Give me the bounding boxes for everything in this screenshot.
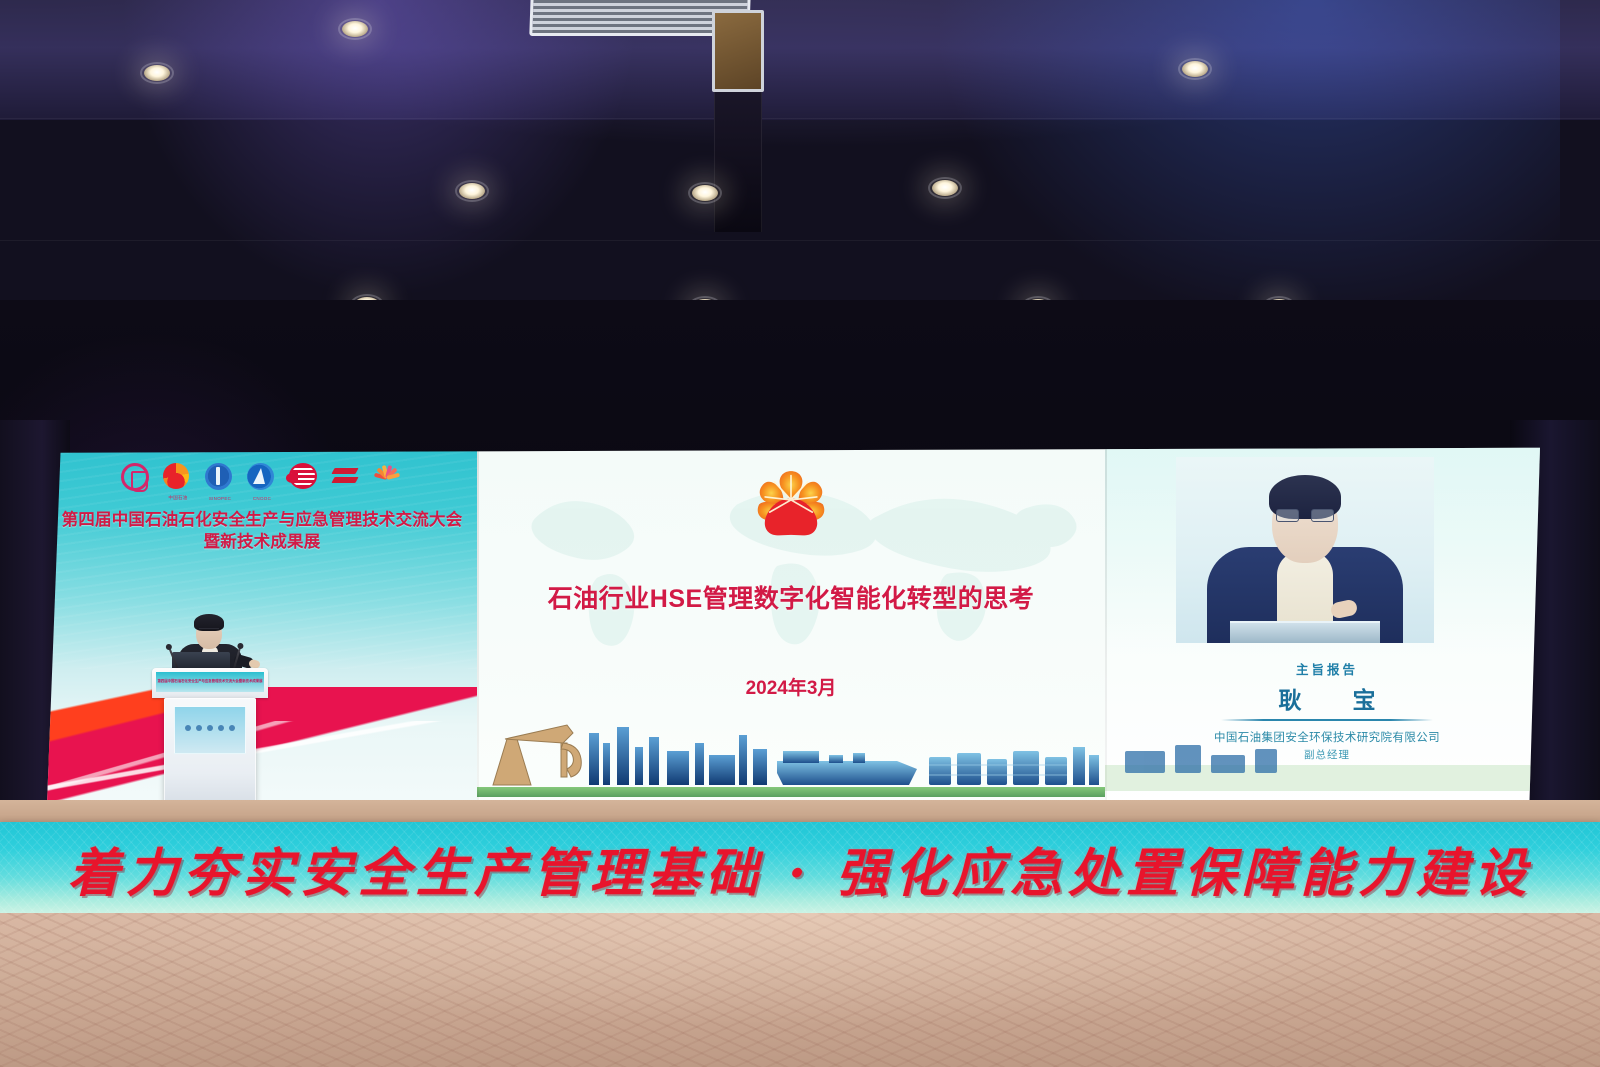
- banner-slogan: 着力夯实安全生产管理基础 · 强化应急处置保障能力建设: [0, 831, 1600, 906]
- ceiling-speaker-column: [714, 92, 762, 232]
- right-panel-facility-photo: [1105, 721, 1549, 791]
- podium-title-band: 第四届中国石油石化安全生产与应急管理技术交流大会暨新技术成果展: [156, 672, 264, 692]
- left-panel-swoosh-highlight: [47, 721, 497, 801]
- podium-logo-strip: [175, 725, 245, 731]
- podium-front-panel: [174, 706, 246, 754]
- grass-strip: [477, 787, 1105, 797]
- conference-title: 第四届中国石油石化安全生产与应急管理技术交流大会 暨新技术成果展: [55, 509, 469, 554]
- session-type-label: 主旨报告: [1105, 659, 1549, 678]
- cnooc-logo: CNOOC: [247, 463, 277, 493]
- floor-light-pool: [0, 913, 1600, 1067]
- downlight-icon: [932, 180, 958, 196]
- conference-title-line2: 暨新技术成果展: [55, 531, 469, 553]
- speaker-name: 耿 宝: [1105, 681, 1549, 715]
- presentation-date: 2024年3月: [477, 673, 1105, 700]
- presenter-glasses-icon: [199, 628, 219, 633]
- sinopec-logo: SINOPEC: [205, 463, 235, 493]
- stage-banner: 着力夯实安全生产管理基础 · 强化应急处置保障能力建设: [0, 822, 1600, 917]
- downlight-icon: [342, 21, 368, 37]
- downlight-icon: [144, 65, 170, 81]
- downlight-icon: [692, 185, 718, 201]
- sinochem-globe-logo: [289, 463, 319, 493]
- podium-with-presenter: 第四届中国石油石化安全生产与应急管理技术交流大会暨新技术成果展: [150, 612, 270, 812]
- downlight-icon: [459, 183, 485, 199]
- oil-industry-skyline-illustration: [477, 699, 1105, 791]
- speaker-video-podium: [1230, 621, 1380, 643]
- podium-band-text: 第四届中国石油石化安全生产与应急管理技术交流大会暨新技术成果展: [157, 679, 262, 684]
- starburst-logo: [373, 463, 403, 493]
- cnpc-sunflower-logo: [753, 465, 829, 541]
- conference-title-line1: 第四届中国石油石化安全生产与应急管理技术交流大会: [55, 509, 469, 531]
- downlight-icon: [1182, 61, 1208, 77]
- presentation-title: 石油行业HSE管理数字化智能化转型的思考: [493, 579, 1089, 615]
- live-camera-feed: [1176, 457, 1434, 643]
- china-petroleum-society-logo: [121, 463, 151, 493]
- ceiling-glow-left: [120, 0, 640, 300]
- cnpc-petrochina-logo: 中国石油: [163, 463, 193, 493]
- speaker-video-glasses-icon: [1276, 509, 1334, 522]
- ceiling: [0, 0, 1600, 330]
- ceiling-speaker-icon: [712, 10, 764, 92]
- chevron-red-logo: [331, 463, 361, 493]
- led-center-panel: 石油行业HSE管理数字化智能化转型的思考 2024年3月: [477, 447, 1105, 805]
- stage-scene: 中国石油 SINOPEC CNOOC: [0, 0, 1600, 1067]
- led-display-wall: 中国石油 SINOPEC CNOOC: [47, 447, 1549, 805]
- ceiling-glow-right: [940, 0, 1560, 320]
- led-right-panel: 主旨报告 耿 宝 中国石油集团安全环保技术研究院有限公司 副总经理: [1105, 447, 1549, 805]
- sponsor-logo-row: 中国石油 SINOPEC CNOOC: [47, 463, 477, 493]
